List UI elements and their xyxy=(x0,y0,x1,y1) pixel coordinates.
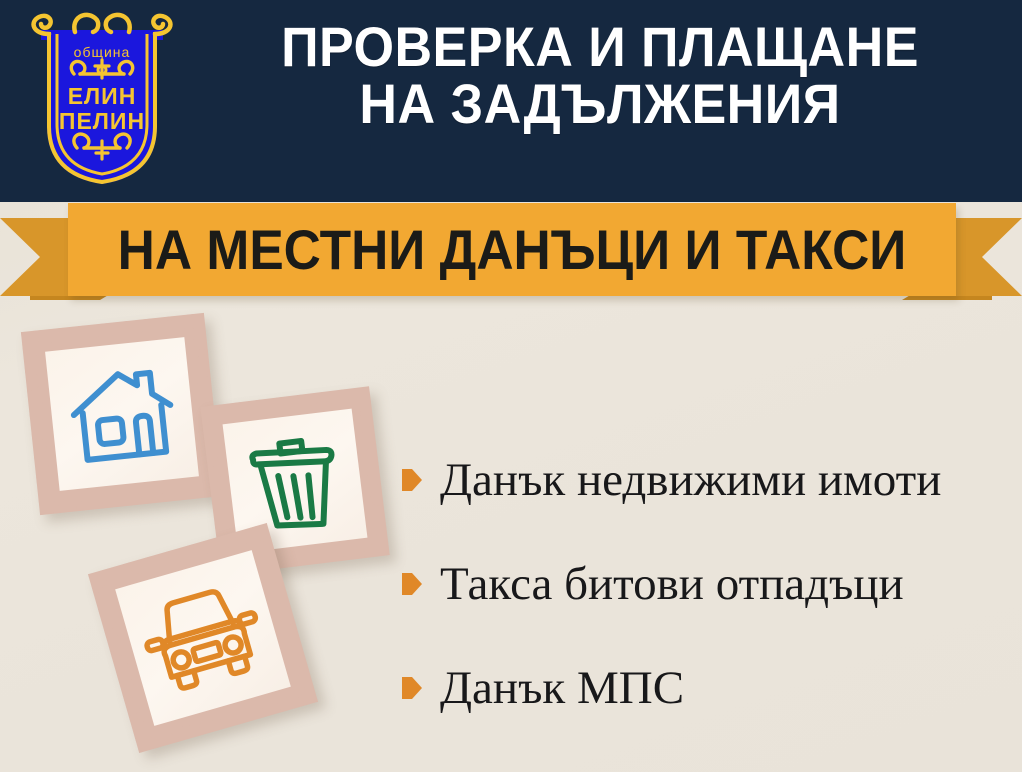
page-title: ПРОВЕРКА И ПЛАЩАНЕ НА ЗАДЪЛЖЕНИЯ xyxy=(219,18,982,132)
bullet-arrow-icon xyxy=(402,469,422,491)
list-item[interactable]: Такса битови отпадъци xyxy=(402,532,1002,636)
subtitle-ribbon: НА МЕСТНИ ДАНЪЦИ И ТАКСИ xyxy=(0,196,1022,311)
crest-label-obshtina: община xyxy=(74,44,131,60)
tax-type-list: Данък недвижими имоти Такса битови отпад… xyxy=(402,428,1002,740)
list-item[interactable]: Данък недвижими имоти xyxy=(402,428,1002,532)
trash-bin-icon xyxy=(242,425,347,536)
list-item-label: Такса битови отпадъци xyxy=(440,561,904,608)
bullet-arrow-icon xyxy=(402,677,422,699)
list-item[interactable]: Данък МПС xyxy=(402,636,1002,740)
municipality-crest-logo: община ЕЛИН ПЕЛИН xyxy=(27,8,177,188)
house-icon xyxy=(65,361,179,467)
crest-label-pelin: ПЕЛИН xyxy=(59,108,145,134)
poster-canvas: община ЕЛИН ПЕЛИН ПРОВЕРКА И ПЛАЩАНЕ НА … xyxy=(0,0,1022,772)
stamp-card-house xyxy=(21,313,223,515)
page-title-line-2: НА ЗАДЪЛЖЕНИЯ xyxy=(219,75,982,132)
list-item-label: Данък МПС xyxy=(440,665,684,712)
page-title-line-1: ПРОВЕРКА И ПЛАЩАНЕ xyxy=(219,18,982,75)
bullet-arrow-icon xyxy=(402,573,422,595)
crest-label-elin: ЕЛИН xyxy=(68,83,137,109)
crest-icon: община ЕЛИН ПЕЛИН xyxy=(27,8,177,188)
list-item-label: Данък недвижими имоти xyxy=(440,457,941,504)
ribbon-label: НА МЕСТНИ ДАНЪЦИ И ТАКСИ xyxy=(104,203,921,296)
